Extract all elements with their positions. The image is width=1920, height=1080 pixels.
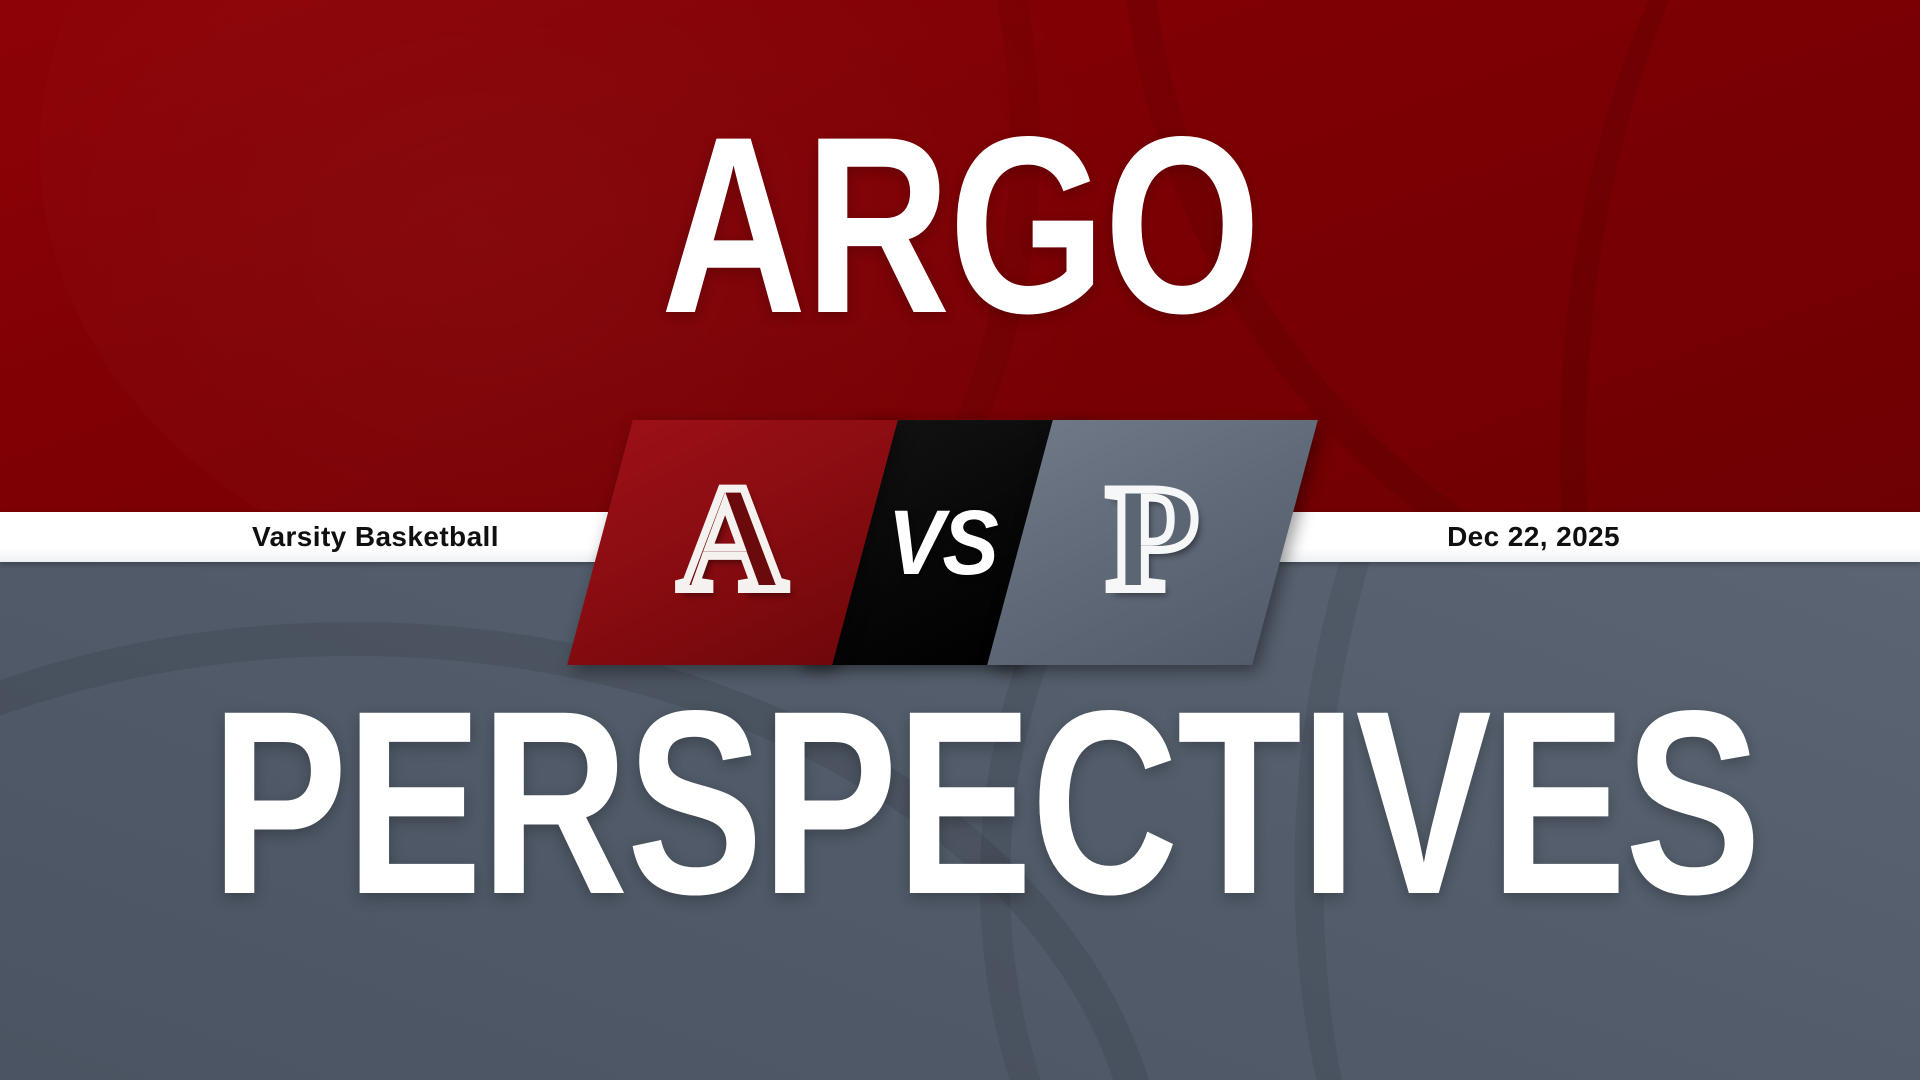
matchup-graphic: A VS P — [600, 420, 1320, 665]
away-team-card-inner: P — [1020, 420, 1285, 665]
broadcast-title-card: ARGO PERSPECTIVES Varsity Basketball Dec… — [0, 0, 1920, 1080]
away-team-logo-letter: P — [1106, 462, 1199, 624]
home-team-logo-letter: A — [678, 462, 788, 624]
versus-label: VS — [887, 497, 996, 589]
home-team-card-inner: A — [600, 420, 865, 665]
section-title-perspectives: PERSPECTIVES — [211, 690, 1709, 915]
page-title-argo: ARGO — [192, 118, 1728, 335]
game-date: Dec 22, 2025 — [1447, 512, 1620, 562]
sport-label: Varsity Basketball — [252, 512, 499, 562]
